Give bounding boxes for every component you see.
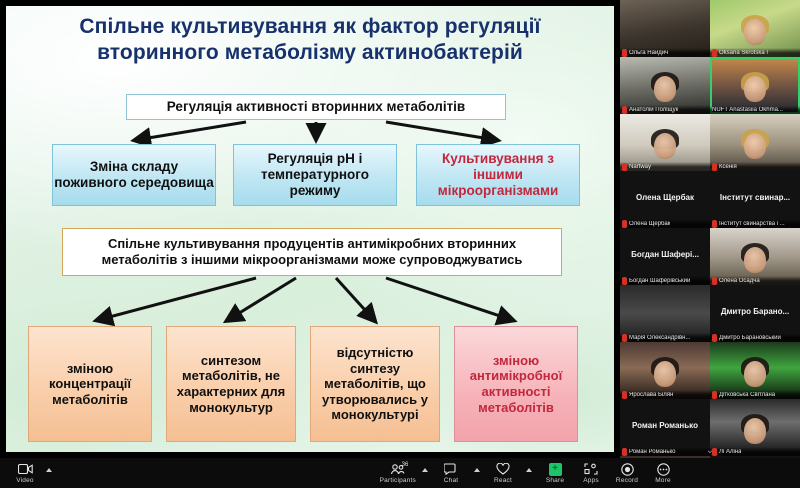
- muted-microphone-icon: [712, 277, 717, 284]
- flow-node-cocultivation-statement: Спільне культивування продуцентів антимі…: [62, 228, 562, 276]
- meeting-toolbar[interactable]: Video 36 Participants: [0, 458, 800, 488]
- participant-namebar: Nartway: [620, 162, 710, 171]
- participant-name: Інститут свинарства і ...: [719, 221, 785, 227]
- participant-tile[interactable]: Дітковська Світлана: [710, 342, 800, 399]
- participant-display-name: Олена Щербак: [620, 193, 710, 202]
- participant-tile[interactable]: Ольга Найдич: [620, 0, 710, 57]
- flow-node-absent-synthesis: відсутністю синтезу метаболітів, що утво…: [310, 326, 440, 442]
- participant-name: Ольга Найдич: [629, 50, 668, 56]
- video-button[interactable]: Video: [8, 463, 42, 484]
- participant-display-name: Богдан Шаферi...: [620, 250, 710, 259]
- muted-microphone-icon: [712, 49, 717, 56]
- flow-node-concentration-change: зміною концентрації метаболітів: [28, 326, 152, 442]
- participant-namebar: Богдан Шаферівський: [620, 276, 710, 285]
- participant-avatar-face: [744, 76, 766, 102]
- gallery-row: Ольга НайдичOksana Skrotska I: [620, 0, 800, 57]
- apps-icon: [584, 463, 598, 476]
- gallery-row: Анатолій ПоліщукNUFT Anastasiia Okhma...: [620, 57, 800, 114]
- react-button-label: React: [494, 477, 512, 484]
- video-camera-icon: [18, 463, 33, 476]
- gallery-row: NartwayКсенія: [620, 114, 800, 171]
- participant-name: Дмитро Барановський: [719, 335, 781, 341]
- gallery-row: Ярослава БілянДітковська Світлана: [620, 342, 800, 399]
- video-options-chevron-icon[interactable]: [46, 468, 52, 472]
- muted-microphone-icon: [622, 391, 627, 398]
- participant-tile[interactable]: Олена Осадча: [710, 228, 800, 285]
- video-button-label: Video: [16, 477, 34, 484]
- participant-avatar-face: [744, 361, 766, 387]
- participant-display-name: Дмитро Барано...: [710, 307, 800, 316]
- participant-tile[interactable]: Олена ЩербакОлена Щербак: [620, 171, 710, 228]
- participant-name: Марія Олександрівн...: [629, 335, 690, 341]
- participant-display-name: Інститут свинар...: [710, 193, 800, 202]
- muted-microphone-icon: [712, 391, 717, 398]
- participant-name: Анатолій Поліщук: [629, 107, 678, 113]
- participant-namebar: Марія Олександрівн...: [620, 333, 710, 342]
- muted-microphone-icon: [712, 163, 717, 170]
- participants-options-chevron-icon[interactable]: [422, 468, 428, 472]
- shared-screen-area[interactable]: Спільне культивування як фактор регуляці…: [0, 0, 620, 458]
- muted-microphone-icon: [622, 220, 627, 227]
- participant-name: Nartway: [629, 164, 651, 170]
- gallery-scroll-chevron-icon[interactable]: ⌄: [620, 445, 800, 456]
- muted-microphone-icon: [712, 334, 717, 341]
- gallery-row: Марія Олександрівн...Дмитро Барано...Дми…: [620, 285, 800, 342]
- participant-namebar: Олена Осадча: [710, 276, 800, 285]
- more-button-label: More: [655, 477, 671, 484]
- participant-namebar: Дмитро Барановський: [710, 333, 800, 342]
- record-button[interactable]: Record: [610, 463, 644, 484]
- participant-tile[interactable]: Анатолій Поліщук: [620, 57, 710, 114]
- gallery-row: Богдан Шаферi...Богдан ШаферівськийОлена…: [620, 228, 800, 285]
- react-options-chevron-icon[interactable]: [526, 468, 532, 472]
- muted-microphone-icon: [622, 334, 627, 341]
- participant-avatar-face: [744, 133, 766, 159]
- participant-avatar-face: [654, 361, 676, 387]
- participant-tile[interactable]: Марія Олександрівн...: [620, 285, 710, 342]
- presentation-slide: Спільне культивування як фактор регуляці…: [6, 6, 614, 452]
- flow-node-root: Регуляція активності вторинних метаболіт…: [126, 94, 506, 120]
- participant-name: Олена Осадча: [719, 278, 760, 284]
- chat-icon: [444, 463, 458, 476]
- flow-node-co-cultivation: Культивування з іншими мікроорганізмами: [416, 144, 580, 206]
- participant-name: Дітковська Світлана: [719, 392, 775, 398]
- gallery-row: Олена ЩербакОлена ЩербакІнститут свинар.…: [620, 171, 800, 228]
- participant-name: Ярослава Білян: [629, 392, 673, 398]
- participant-avatar-face: [744, 247, 766, 273]
- muted-microphone-icon: [622, 163, 627, 170]
- participants-button[interactable]: 36 Participants: [380, 463, 416, 484]
- flow-node-antimicrobial-activity: зміною антимікробної активності метаболі…: [454, 326, 578, 442]
- participants-count: 36: [402, 462, 409, 468]
- flow-node-ph-temperature: Регуляція рН і температурного режиму: [233, 144, 397, 206]
- participant-namebar: Олена Щербак: [620, 219, 710, 228]
- participants-button-label: Participants: [380, 477, 416, 484]
- share-button-label: Share: [546, 477, 564, 484]
- participant-namebar: Інститут свинарства і ...: [710, 219, 800, 228]
- participant-avatar-face: [654, 76, 676, 102]
- participant-namebar: Ольга Найдич: [620, 48, 710, 57]
- participant-name: Oksana Skrotska I: [719, 50, 768, 56]
- participant-tile[interactable]: Інститут свинар...Інститут свинарства і …: [710, 171, 800, 228]
- share-screen-icon: +: [549, 463, 562, 476]
- participant-avatar-face: [654, 133, 676, 159]
- participant-avatar-face: [744, 19, 766, 45]
- participant-tile[interactable]: Nartway: [620, 114, 710, 171]
- participant-name: Олена Щербак: [629, 221, 670, 227]
- record-icon: [621, 463, 634, 476]
- participant-tile[interactable]: Ксенія: [710, 114, 800, 171]
- zoom-meeting-window: Спільне культивування як фактор регуляці…: [0, 0, 800, 488]
- more-icon: [657, 463, 670, 476]
- chat-options-chevron-icon[interactable]: [474, 468, 480, 472]
- participant-namebar: Ярослава Білян: [620, 390, 710, 399]
- participant-display-name: Роман Романько: [620, 421, 710, 430]
- flow-node-new-metabolites: синтезом метаболітів, не характерних для…: [166, 326, 296, 442]
- muted-microphone-icon: [622, 49, 627, 56]
- apps-button[interactable]: Apps: [574, 463, 608, 484]
- participant-avatar-face: [744, 418, 766, 444]
- heart-icon: [496, 463, 510, 476]
- participant-namebar: Ксенія: [710, 162, 800, 171]
- participant-namebar: NUFT Anastasiia Okhma...: [710, 106, 800, 114]
- participant-name: NUFT Anastasiia Okhma...: [712, 107, 783, 113]
- apps-button-label: Apps: [583, 477, 599, 484]
- participant-tile[interactable]: Богдан Шаферi...Богдан Шаферівський: [620, 228, 710, 285]
- participant-tile[interactable]: Ярослава Білян: [620, 342, 710, 399]
- share-screen-button[interactable]: + Share: [538, 463, 572, 484]
- react-button[interactable]: React: [486, 463, 520, 484]
- participant-namebar: Oksana Skrotska I: [710, 48, 800, 57]
- muted-microphone-icon: [622, 277, 627, 284]
- participant-tile[interactable]: Дмитро Барано...Дмитро Барановський: [710, 285, 800, 342]
- participant-name: Богдан Шаферівський: [629, 278, 690, 284]
- muted-microphone-icon: [622, 106, 627, 113]
- participant-gallery[interactable]: Ольга НайдичOksana Skrotska IАнатолій По…: [620, 0, 800, 458]
- participant-namebar: Дітковська Світлана: [710, 390, 800, 399]
- participant-name: Ксенія: [719, 164, 737, 170]
- chat-button-label: Chat: [444, 477, 459, 484]
- participant-namebar: Анатолій Поліщук: [620, 105, 710, 114]
- record-button-label: Record: [616, 477, 638, 484]
- participant-tile[interactable]: Oksana Skrotska I: [710, 0, 800, 57]
- muted-microphone-icon: [712, 220, 717, 227]
- more-button[interactable]: More: [646, 463, 680, 484]
- flow-node-nutrient-medium: Зміна складу поживного середовища: [52, 144, 216, 206]
- participant-tile[interactable]: NUFT Anastasiia Okhma...: [710, 57, 800, 114]
- chat-button[interactable]: Chat: [434, 463, 468, 484]
